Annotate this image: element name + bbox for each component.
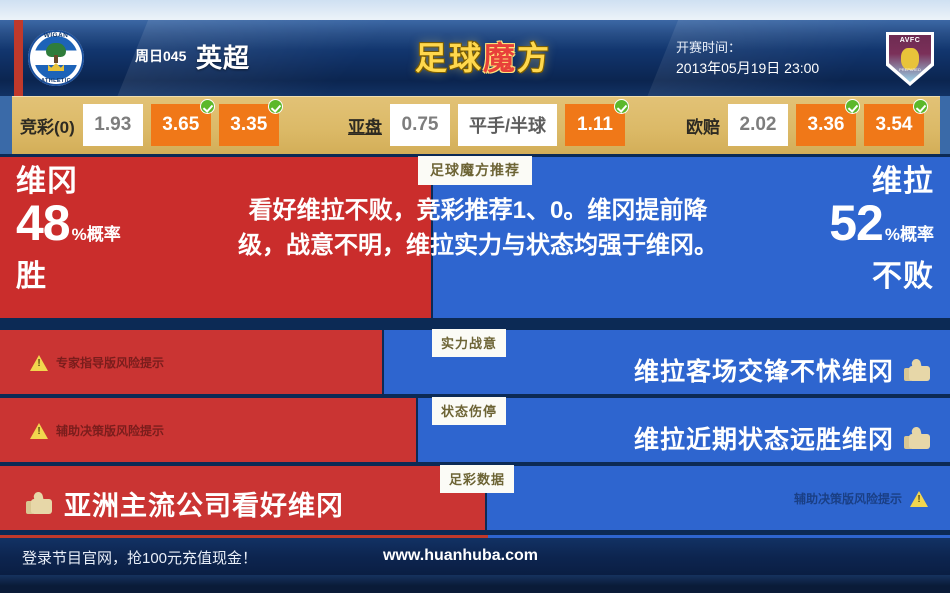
home-crest-top-text: WIGAN [28, 32, 84, 39]
insight-row-form: 状态伤停 辅助决策版风险提示 维拉近期状态远胜维冈 [0, 398, 950, 462]
insight-text: 维拉客场交锋不怵维冈 [634, 352, 894, 388]
footer-url[interactable]: www.huanhuba.com [383, 547, 538, 565]
away-probability-unit: %概率 [885, 211, 934, 259]
odds-cell-value: 3.36 [808, 114, 845, 136]
risk-warning: 专家指导版风险提示 [30, 354, 164, 371]
insight-text-block: 维拉客场交锋不怵维冈 [634, 352, 930, 388]
risk-warning-right: 辅助决策版风险提示 [794, 490, 928, 507]
odds-strip-left-edge [0, 96, 12, 154]
check-icon [268, 99, 283, 114]
check-icon [845, 99, 860, 114]
odds-cell[interactable]: 1.93 [83, 104, 143, 146]
risk-warning-text: 专家指导版风险提示 [56, 354, 164, 371]
odds-group-label: 竞彩(0) [20, 113, 75, 138]
insight-text-block: 维拉近期状态远胜维冈 [634, 420, 930, 456]
hero-badge: 足球魔方推荐 [418, 156, 532, 185]
away-probability-value: 52 [829, 199, 883, 247]
insight-row-lottery-data: 足彩数据 亚洲主流公司看好维冈 辅助决策版风险提示 [0, 466, 950, 530]
brand-logo-part3: 方 [517, 40, 551, 76]
home-probability-unit: %概率 [72, 211, 121, 259]
risk-warning-text: 辅助决策版风险提示 [56, 422, 164, 439]
footer-bar: 登录节目官网，抢100元充值现金！ www.huanhuba.com [0, 538, 950, 575]
check-icon [614, 99, 629, 114]
home-team-name: 维冈 [16, 165, 121, 199]
thumbs-up-icon [904, 427, 930, 450]
risk-warning: 辅助决策版风险提示 [30, 422, 164, 439]
odds-cell-value: 1.11 [577, 114, 613, 136]
kickoff-value: 2013年05月19日 23:00 [676, 58, 819, 78]
insight-row-badge: 实力战意 [432, 329, 506, 357]
insight-row-strength: 实力战意 专家指导版风险提示 维拉客场交锋不怵维冈 [0, 330, 950, 394]
odds-strip-right-edge [940, 96, 950, 154]
odds-cell-value: 3.54 [876, 114, 913, 136]
insight-text: 维拉近期状态远胜维冈 [634, 420, 894, 456]
match-preview-card: WIGAN ATHLETIC AVFC PREPARED 周日045 英超 足球… [0, 0, 950, 593]
home-probability-block: 维冈 48 %概率 胜 [16, 165, 121, 295]
recommendation-text: 看好维拉不败，竞彩推荐1、0。维冈提前降级，战意不明，维拉实力与状态均强于维冈。 [238, 193, 718, 263]
kickoff-label: 开赛时间： [676, 38, 819, 58]
odds-group-label: 亚盘 [348, 113, 382, 138]
lottery-insight-block: 亚洲主流公司看好维冈 [26, 484, 344, 523]
home-crest-bottom-text: ATHLETIC [28, 78, 84, 84]
brand-logo: 足球魔方 [415, 33, 551, 79]
odds-group-jingcai: 竞彩(0) 1.93 3.65 3.35 [20, 104, 279, 146]
check-icon [200, 99, 215, 114]
lottery-insight-text: 亚洲主流公司看好维冈 [64, 484, 344, 523]
odds-cell-value: 3.65 [162, 114, 199, 136]
risk-warning-text: 辅助决策版风险提示 [794, 490, 902, 507]
footer-promo-text: 登录节目官网，抢100元充值现金！ [22, 547, 257, 568]
thumbs-up-icon [904, 359, 930, 382]
insight-row-badge: 足彩数据 [440, 465, 514, 493]
odds-cell[interactable]: 3.35 [219, 104, 279, 146]
odds-cell[interactable]: 2.02 [728, 104, 788, 146]
odds-group-label: 欧赔 [686, 113, 720, 138]
odds-group-oupei: 欧赔 2.02 3.36 3.54 [686, 104, 924, 146]
prediction-hero: 足球魔方推荐 维冈 48 %概率 胜 维拉 52 %概率 不败 看好维拉不败，竞… [0, 157, 950, 318]
check-icon [913, 99, 928, 114]
away-probability-block: 维拉 52 %概率 不败 [829, 165, 934, 295]
odds-cell[interactable]: 平手/半球 [458, 104, 557, 146]
odds-cell[interactable]: 3.36 [796, 104, 856, 146]
match-round-label: 周日045 [135, 46, 186, 66]
warning-icon [30, 355, 48, 371]
away-team-name: 维拉 [829, 165, 934, 199]
away-team-crest: AVFC PREPARED [886, 32, 934, 86]
home-outcome-label: 胜 [16, 259, 121, 295]
home-probability-value: 48 [16, 199, 70, 247]
warning-icon [910, 491, 928, 507]
thumbs-up-icon [26, 492, 52, 515]
away-outcome-label: 不败 [829, 259, 934, 295]
match-league-label: 英超 [196, 38, 250, 75]
odds-cell[interactable]: 3.54 [864, 104, 924, 146]
brand-logo-part2: 魔 [483, 40, 517, 76]
odds-cell[interactable]: 0.75 [390, 104, 450, 146]
away-crest-motto: PREPARED [886, 67, 934, 72]
odds-cell[interactable]: 3.65 [151, 104, 211, 146]
brand-logo-part1: 足球 [415, 40, 483, 76]
warning-icon [30, 423, 48, 439]
footer-shadow [0, 575, 950, 593]
home-team-crest: WIGAN ATHLETIC [28, 30, 84, 86]
header-red-accent [14, 20, 23, 96]
odds-cell-value: 3.35 [230, 114, 267, 136]
kickoff-block: 开赛时间： 2013年05月19日 23:00 [676, 38, 819, 78]
insight-row-badge: 状态伤停 [432, 397, 506, 425]
odds-group-yapan: 亚盘 0.75 平手/半球 1.11 [348, 104, 625, 146]
away-crest-text: AVFC [886, 37, 934, 44]
odds-cell[interactable]: 1.11 [565, 104, 625, 146]
